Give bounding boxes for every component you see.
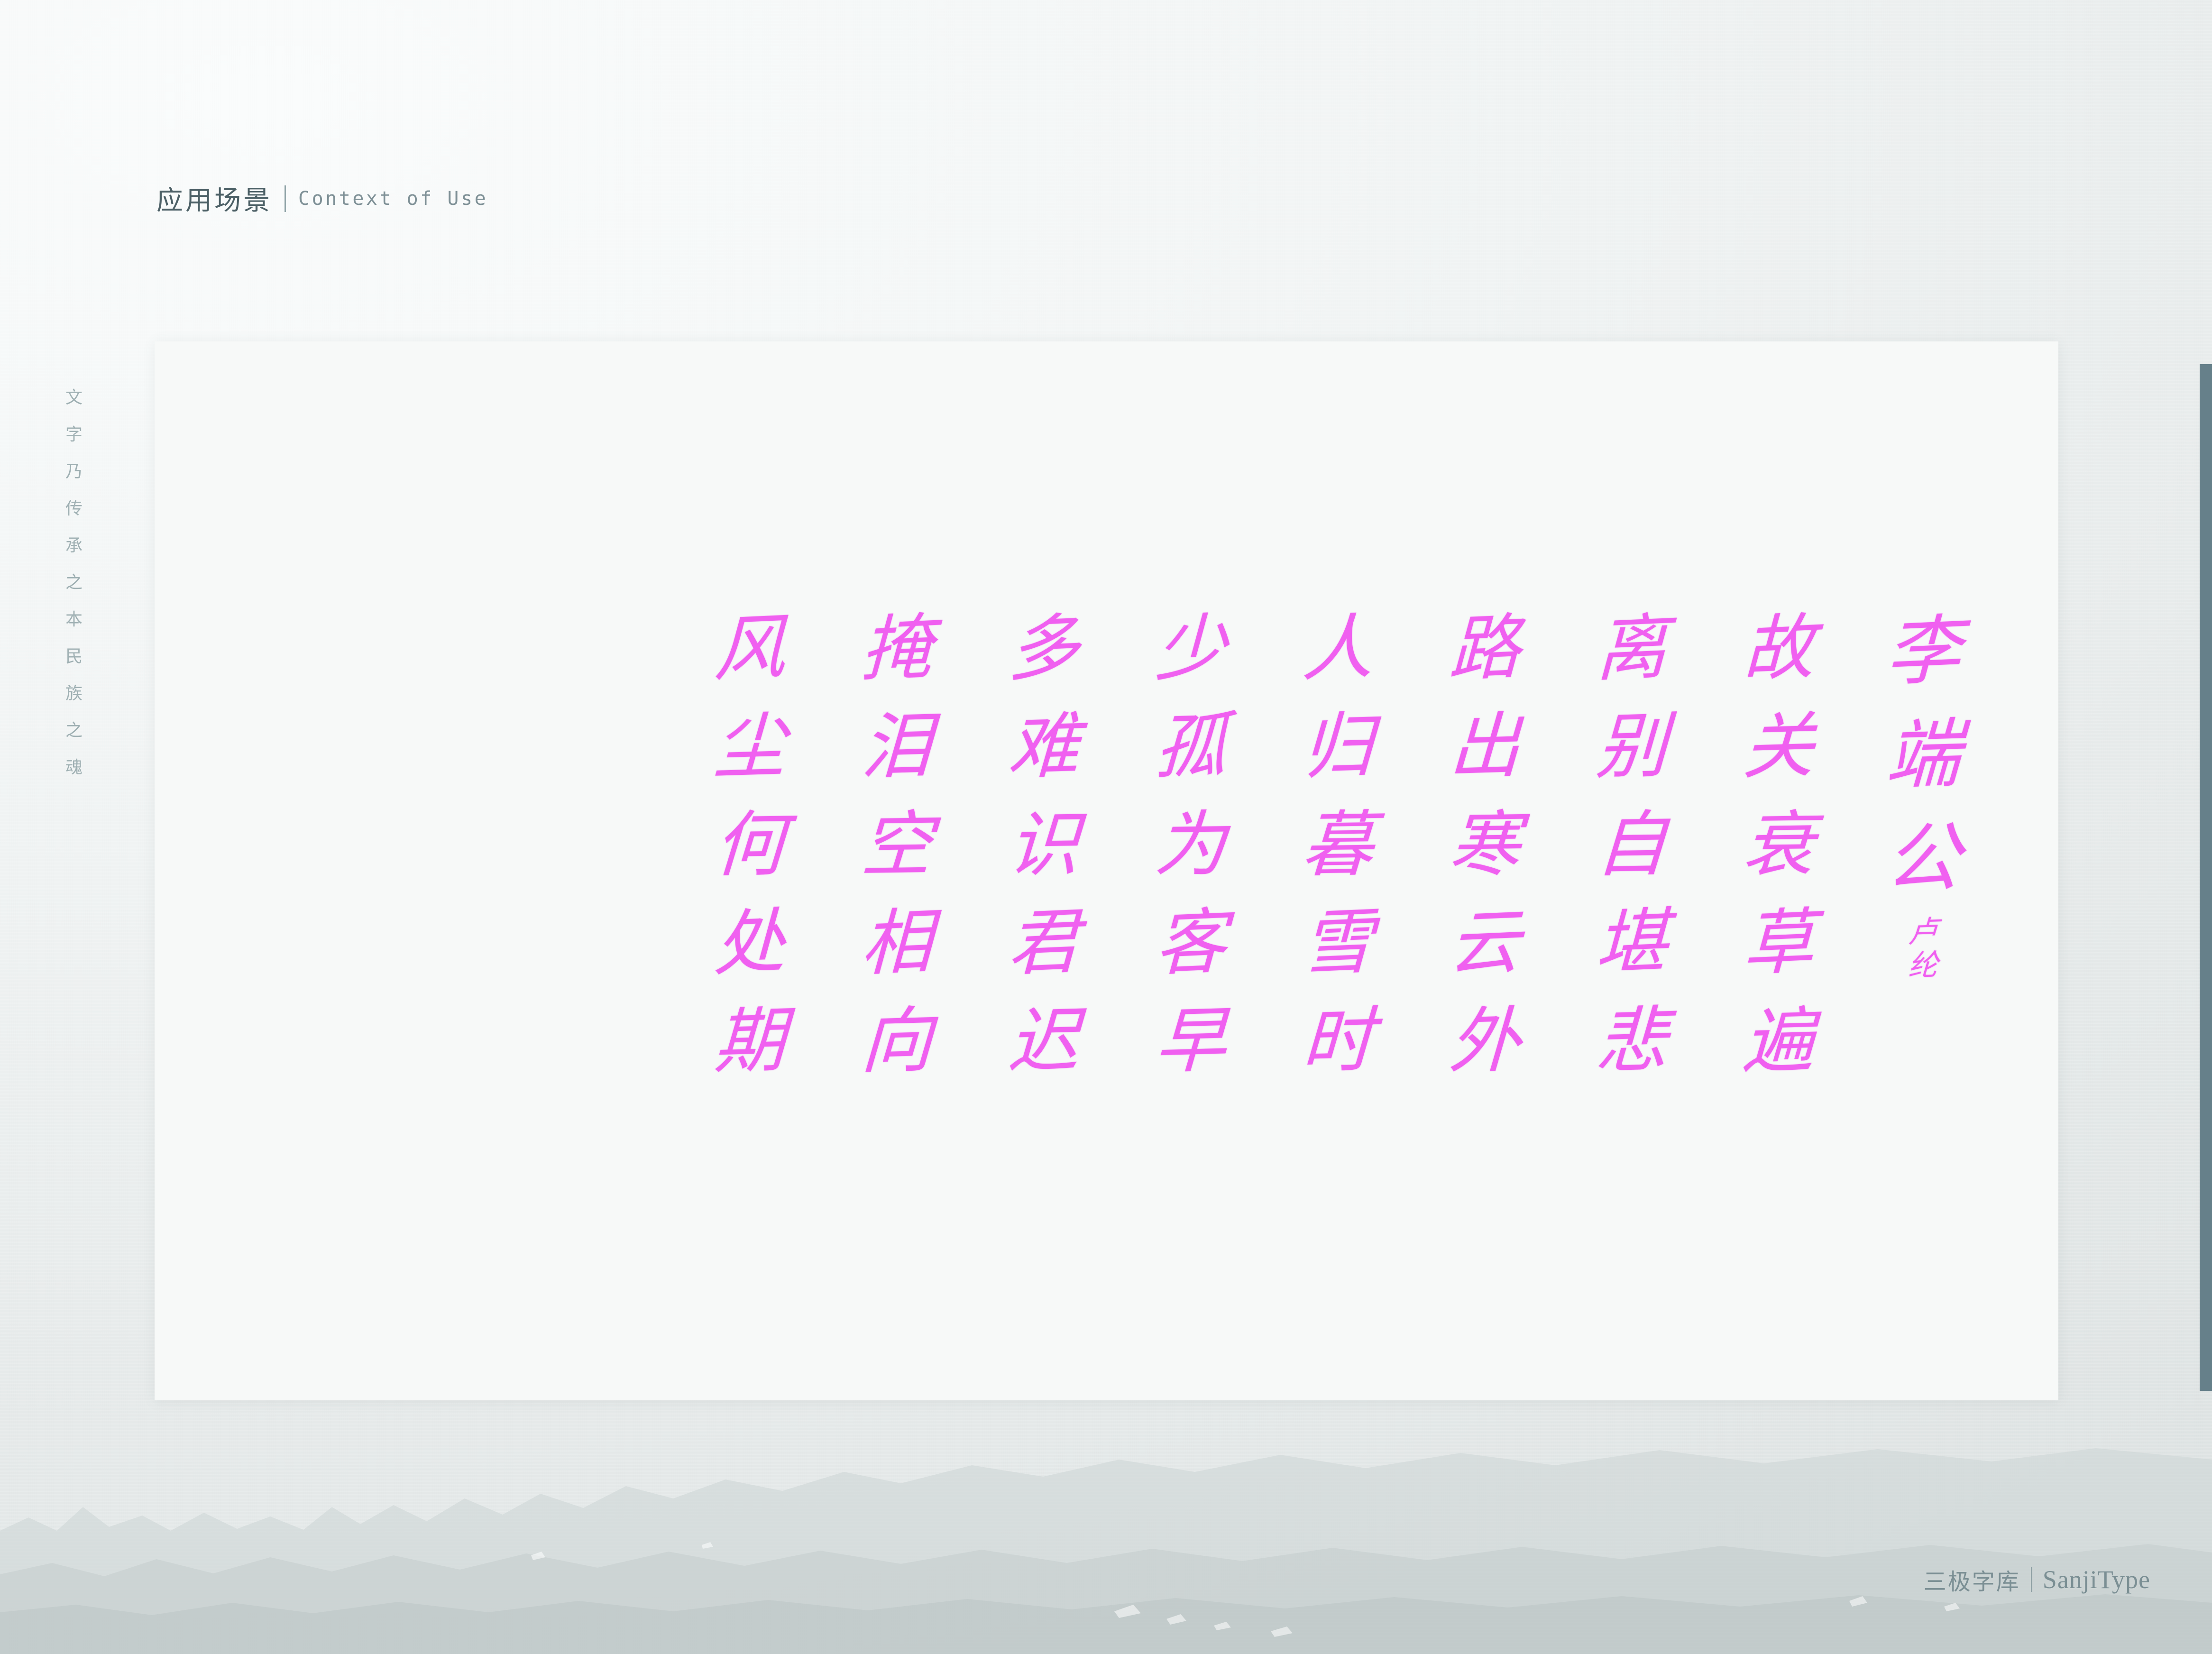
poem-column-title: 李端公卢纶 [1852, 600, 1994, 983]
poem-char: 孤 [1153, 697, 1229, 797]
poem-char: 离 [1595, 598, 1668, 700]
motto-char: 文 [65, 389, 83, 406]
poem-char: 相 [860, 893, 934, 994]
poem-char: 故 [1742, 598, 1815, 700]
poem-char: 向 [859, 992, 935, 1092]
poem-char: 空 [858, 796, 935, 895]
poem-char: 期 [712, 992, 788, 1092]
scrollbar-track[interactable] [2200, 0, 2212, 1654]
poem-char: 外 [1447, 992, 1523, 1092]
poem-char: 处 [713, 893, 787, 994]
poem-char: 关 [1741, 697, 1817, 797]
poem-column-line-7: 掩泪空相向 [823, 600, 970, 1091]
motto-char: 魂 [65, 759, 83, 776]
poem-char: 别 [1594, 697, 1670, 797]
poem-char: 人 [1301, 598, 1374, 700]
poem-char: 草 [1742, 893, 1816, 994]
poem-char: 端 [1883, 702, 1963, 808]
poem-char: 早 [1153, 992, 1229, 1092]
motto-char: 民 [65, 648, 83, 665]
poem-author-char: 纶 [1908, 948, 1939, 983]
motto-char: 本 [65, 611, 83, 628]
poem-char: 归 [1300, 697, 1376, 797]
poem-column-line-8: 风尘何处期 [676, 600, 823, 1091]
poem-column-line-6: 多难识君迟 [970, 600, 1117, 1091]
poem-char: 李 [1884, 598, 1962, 705]
motto-char: 之 [65, 574, 83, 591]
poem-char: 风 [713, 598, 786, 700]
poem-char: 自 [1593, 796, 1670, 895]
brand-divider [2031, 1567, 2032, 1592]
poem-char: 堪 [1595, 893, 1669, 994]
poem-char: 时 [1300, 992, 1376, 1092]
poem-char: 遍 [1741, 992, 1817, 1092]
specimen-card: 风尘何处期掩泪空相向多难识君迟少孤为客早人归暮雪时路出寒云外离别自堪悲故关衰草遍… [155, 341, 2058, 1400]
poem-char: 雪 [1301, 893, 1375, 994]
poem-column-line-2: 离别自堪悲 [1558, 600, 1705, 1091]
poem-char: 为 [1152, 796, 1229, 895]
poem-column-line-4: 人归暮雪时 [1264, 600, 1411, 1091]
poem-char: 难 [1006, 697, 1082, 797]
poem-char: 君 [1007, 893, 1081, 994]
poem-char: 暮 [1299, 796, 1376, 895]
motto-char: 传 [65, 500, 83, 517]
poem-char: 掩 [860, 598, 933, 700]
poem-column-line-5: 少孤为客早 [1117, 600, 1264, 1091]
poem-char: 路 [1448, 598, 1521, 700]
header-divider [285, 185, 286, 212]
poem-char: 尘 [712, 697, 788, 797]
poem-char: 云 [1448, 893, 1522, 994]
vertical-motto: 文字乃传承之本民族之魂 [65, 389, 83, 776]
poem-char: 识 [1005, 796, 1082, 895]
brand-name-en: SanjiType [2043, 1565, 2150, 1594]
poem-char: 泪 [859, 697, 935, 797]
motto-char: 字 [65, 426, 83, 443]
page-header: 应用场景 Context of Use [156, 179, 488, 218]
poem-char: 出 [1447, 697, 1523, 797]
poem-column-line-1: 故关衰草遍 [1705, 600, 1852, 1091]
motto-char: 承 [65, 537, 83, 554]
motto-char: 乃 [65, 463, 83, 480]
page-title-zh: 应用场景 [156, 179, 272, 218]
poem-char: 公 [1883, 806, 1964, 910]
brand-footer: 三极字库 SanjiType [1924, 1563, 2150, 1596]
motto-char: 族 [65, 685, 83, 702]
poem-block: 风尘何处期掩泪空相向多难识君迟少孤为客早人归暮雪时路出寒云外离别自堪悲故关衰草遍… [676, 600, 1994, 1091]
poem-char: 客 [1154, 893, 1228, 994]
poem-char: 多 [1007, 598, 1080, 700]
poem-char: 少 [1154, 598, 1227, 700]
poem-author-byline: 卢纶 [1909, 915, 1938, 983]
scrollbar-thumb[interactable] [2200, 364, 2212, 1391]
poem-char: 迟 [1006, 992, 1082, 1092]
poem-char: 悲 [1594, 992, 1670, 1092]
poem-char: 何 [711, 796, 788, 895]
poem-column-line-3: 路出寒云外 [1411, 600, 1558, 1091]
poem-char: 衰 [1740, 796, 1817, 895]
motto-char: 之 [65, 722, 83, 739]
page-title-en: Context of Use [298, 188, 488, 210]
brand-name-zh: 三极字库 [1924, 1563, 2020, 1596]
poem-char: 寒 [1446, 796, 1523, 895]
poem-author-char: 卢 [1908, 914, 1939, 949]
